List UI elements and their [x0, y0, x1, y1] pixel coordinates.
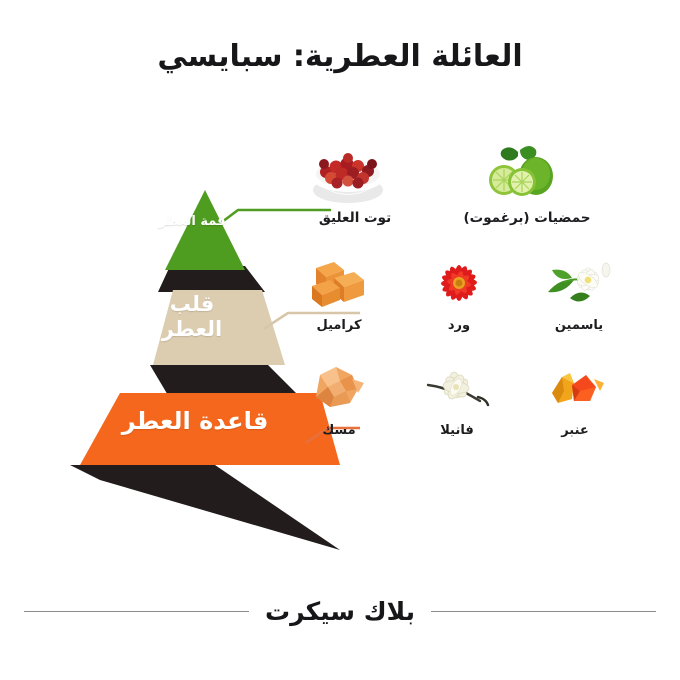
- note-label: عنبر: [561, 423, 589, 438]
- amber-resin-icon: [536, 357, 614, 419]
- berries-bowl-icon: [316, 140, 394, 206]
- note-label: حمضيات (برغموت): [463, 210, 590, 226]
- note-label: مسك: [322, 423, 355, 438]
- note-item: فانيلا: [418, 357, 496, 438]
- note-item: ورد: [420, 252, 498, 333]
- rose-flower-icon: [420, 252, 498, 314]
- note-item: مسك: [300, 357, 378, 438]
- note-label: ورد: [448, 318, 470, 333]
- musk-resin-icon: [300, 357, 378, 419]
- base-tier-shadow: [70, 465, 340, 550]
- top-tier: [165, 190, 245, 270]
- footer-rule-left: [24, 611, 249, 612]
- notes-column: توت العليق: [300, 140, 680, 438]
- infographic-canvas: العائلة العطرية: سبايسي قمة العطر قلب ال…: [0, 0, 680, 680]
- note-label: توت العليق: [319, 210, 391, 226]
- footer-rule-right: [431, 611, 656, 612]
- middle-notes-row: كراميل: [300, 252, 612, 333]
- note-label: ياسمين: [555, 318, 603, 333]
- brand-name: بلاك سيكرت: [265, 597, 415, 626]
- note-item: ياسمين: [540, 252, 618, 333]
- note-item: توت العليق: [300, 140, 410, 226]
- note-label: فانيلا: [440, 423, 473, 438]
- base-notes-row: مسك: [300, 357, 606, 438]
- top-notes-row: توت العليق: [300, 140, 666, 226]
- footer: بلاك سيكرت: [0, 597, 680, 626]
- note-item: عنبر: [536, 357, 614, 438]
- note-item: حمضيات (برغموت): [472, 140, 582, 226]
- page-title: العائلة العطرية: سبايسي: [0, 38, 680, 76]
- jasmine-flower-icon: [540, 252, 618, 314]
- note-label: كراميل: [316, 318, 361, 333]
- caramel-cubes-icon: [300, 252, 378, 314]
- citrus-bergamot-icon: [488, 140, 566, 206]
- vanilla-flower-icon: [418, 357, 496, 419]
- note-item: كراميل: [300, 252, 378, 333]
